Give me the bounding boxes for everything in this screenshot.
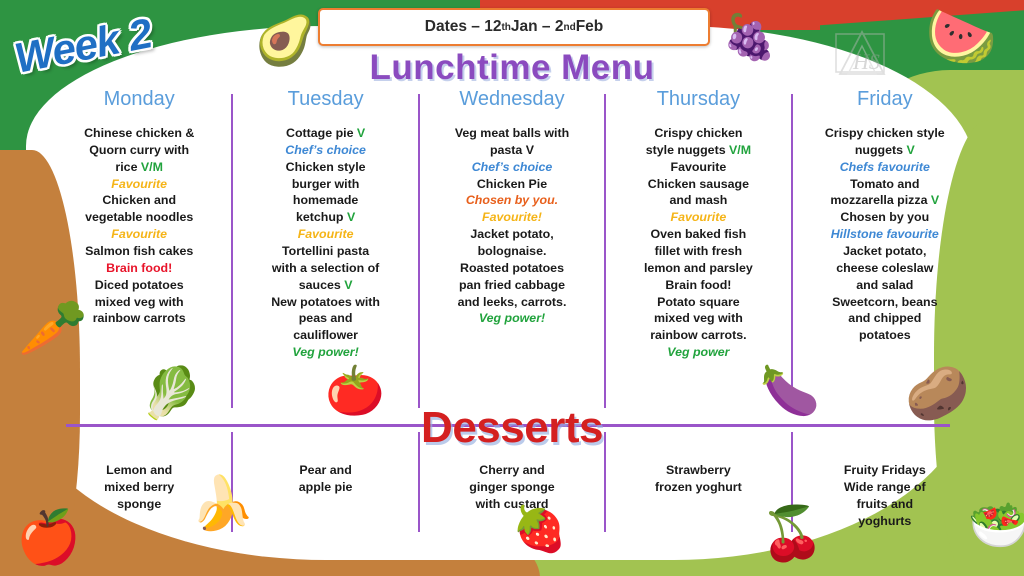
dessert-line: apple pie (240, 479, 410, 496)
menu-line: pasta V (425, 142, 599, 159)
menu-line-text: ketchup (296, 210, 347, 224)
menu-line: Oven baked fish (611, 226, 785, 243)
grape-character-glyph: 🍇 (722, 16, 777, 60)
menu-line: Sweetcorn, beans (798, 294, 972, 311)
menu-tag-chef: Hillstone favourite (798, 226, 972, 243)
menu-line: Chicken style (238, 159, 412, 176)
carrot-character-glyph: 🥕 (18, 300, 88, 356)
menu-tag-fav: Favourite! (425, 209, 599, 226)
dessert-line: Strawberry (613, 462, 783, 479)
veg-marker: V (347, 210, 355, 224)
potato-character-glyph: 🥔 (905, 368, 970, 420)
dates-box: Dates – 12th Jan – 2nd Feb (318, 8, 710, 46)
day-column-monday: MondayChinese chicken &Quorn curry withr… (46, 88, 232, 408)
menu-line-text: and chipped (848, 311, 921, 325)
day-columns: MondayChinese chicken &Quorn curry withr… (46, 88, 978, 408)
menu-line-text: Favourite (671, 160, 727, 174)
dessert-text: Fruity FridaysWide range offruits andyog… (800, 432, 970, 530)
menu-line-text: burger with (292, 177, 359, 191)
aubergine-character: 🍆 (760, 368, 820, 416)
menu-line-text: Favourite (111, 227, 167, 241)
menu-line-text: Sweetcorn, beans (832, 295, 937, 309)
menu-line-text: rainbow carrots. (650, 328, 746, 342)
menu-line: ketchup V (238, 209, 412, 226)
dessert-line: frozen yoghurt (613, 479, 783, 496)
dessert-text: Pear andapple pie (240, 432, 410, 496)
dessert-line: Pear and (240, 462, 410, 479)
cabbage-character: 🥬 (140, 368, 202, 418)
menu-line-text: rice (115, 160, 141, 174)
grape-character: 🍇 (722, 16, 777, 60)
tomato-character: 🍅 (325, 368, 385, 416)
menu-line: sauces V (238, 277, 412, 294)
veg-marker: V/M (729, 143, 751, 157)
apple-character-glyph: 🍎 (16, 512, 81, 564)
menu-line: with a selection of (238, 260, 412, 277)
menu-line-text: Favourite (298, 227, 354, 241)
menu-line: Crispy chicken (611, 125, 785, 142)
menu-line: and leeks, carrots. (425, 294, 599, 311)
banana-character-glyph: 🍌 (190, 478, 255, 530)
veg-marker: V/M (141, 160, 163, 174)
day-column-wednesday: WednesdayVeg meat balls withpasta VChef’… (419, 88, 605, 408)
menu-line: Salmon fish cakes (52, 243, 226, 260)
menu-line-text: Potato square (657, 295, 740, 309)
cherries-character-glyph: 🍒 (760, 508, 825, 560)
menu-line-text: vegetable noodles (85, 210, 193, 224)
menu-line-text: rainbow carrots (93, 311, 186, 325)
menu-line-text: mozzarella pizza (830, 193, 931, 207)
dessert-column-tuesday: Pear andapple pie (232, 432, 418, 542)
menu-line: and mash (611, 192, 785, 209)
menu-line: Roasted potatoes (425, 260, 599, 277)
menu-line: style nuggets V/M (611, 142, 785, 159)
menu-line-text: homemade (293, 193, 358, 207)
menu-line-text: Veg power! (292, 345, 358, 359)
menu-line: mozzarella pizza V (798, 192, 972, 209)
menu-line-text: Quorn curry with (89, 143, 189, 157)
menu-line-text: Oven baked fish (651, 227, 747, 241)
menu-line-text: Salmon fish cakes (85, 244, 193, 258)
menu-line-text: with a selection of (272, 261, 379, 275)
menu-line-text: Chicken sausage (648, 177, 749, 191)
menu-line-text: Chinese chicken & (84, 126, 194, 140)
dessert-text: Strawberryfrozen yoghurt (613, 432, 783, 496)
menu-line: Tortellini pasta (238, 243, 412, 260)
tomato-character-glyph: 🍅 (325, 368, 385, 416)
menu-line-text: fillet with fresh (655, 244, 742, 258)
menu-line-text: Chef’s choice (472, 160, 553, 174)
menu-line-text: and mash (669, 193, 727, 207)
menu-line-text: Hillstone favourite (831, 227, 939, 241)
dessert-line: ginger sponge (427, 479, 597, 496)
menu-line-text: Chicken and (102, 193, 176, 207)
strawberry-character: 🍓 (512, 508, 567, 552)
day-header-friday: Friday (798, 88, 972, 111)
menu-line-text: Jacket potato, (470, 227, 553, 241)
veg-marker: V (931, 193, 939, 207)
avocado-character-glyph: 🥑 (255, 18, 315, 66)
menu-line: Jacket potato, (798, 243, 972, 260)
menu-line-text: Brain food! (665, 278, 731, 292)
menu-line: Tomato and (798, 176, 972, 193)
menu-line: Quorn curry with (52, 142, 226, 159)
menu-tag-brain: Brain food! (52, 260, 226, 277)
menu-line: Chicken and (52, 192, 226, 209)
dessert-line: Wide range of (800, 479, 970, 496)
menu-line-text: Tomato and (850, 177, 919, 191)
menu-line-text: bolognaise. (478, 244, 547, 258)
dates-mid: Jan – 2 (511, 18, 564, 36)
menu-tag-chosen: Chosen by you. (425, 192, 599, 209)
menu-line-text: lemon and parsley (644, 261, 753, 275)
menu-tag-chosenp: Chosen by you (798, 209, 972, 226)
menu-line: Crispy chicken style (798, 125, 972, 142)
day-column-friday: FridayCrispy chicken stylenuggets VChefs… (792, 88, 978, 408)
menu-line: Chicken sausage (611, 176, 785, 193)
strawberry-character-glyph: 🍓 (512, 508, 567, 552)
menu-line: nuggets V (798, 142, 972, 159)
dessert-text: Cherry andginger spongewith custard (427, 432, 597, 513)
menu-line-text: cheese coleslaw (836, 261, 933, 275)
menu-line-text: Brain food! (106, 261, 172, 275)
menu-line: rice V/M (52, 159, 226, 176)
veg-marker: V (344, 278, 352, 292)
menu-line: lemon and parsley (611, 260, 785, 277)
aubergine-character-glyph: 🍆 (760, 368, 820, 416)
menu-line: cauliflower (238, 327, 412, 344)
menu-line-text: Veg power! (479, 311, 545, 325)
menu-line: mixed veg with (611, 310, 785, 327)
dessert-line: yoghurts (800, 513, 970, 530)
menu-line-text: Chefs favourite (840, 160, 930, 174)
menu-poster: HS Week 2 Dates – 12th Jan – 2nd Feb Lun… (0, 0, 1024, 576)
menu-tag-veg: Veg power (611, 344, 785, 361)
menu-tag-brainp: Brain food! (611, 277, 785, 294)
menu-line-text: mixed veg with (95, 295, 184, 309)
menu-line: and chipped (798, 310, 972, 327)
page-title: Lunchtime Menu (0, 48, 1024, 88)
dessert-line: fruits and (800, 496, 970, 513)
watermelon-character: 🍉 (925, 8, 997, 66)
menu-line-text: Jacket potato, (843, 244, 926, 258)
menu-tag-chef: Chefs favourite (798, 159, 972, 176)
beetroot-character: 🥗 (968, 500, 1024, 550)
day-header-tuesday: Tuesday (238, 88, 412, 111)
menu-line-text: Favourite (671, 210, 727, 224)
menu-line-text: Chosen by you (840, 210, 929, 224)
menu-line-text: pasta V (490, 143, 534, 157)
menu-line-text: sauces (299, 278, 344, 292)
menu-line: and salad (798, 277, 972, 294)
menu-tag-fav: Favourite (52, 176, 226, 193)
menu-line: fillet with fresh (611, 243, 785, 260)
dates-suffix: Feb (576, 18, 604, 36)
dates-prefix: Dates – 12 (425, 18, 502, 36)
menu-line-text: and salad (856, 278, 913, 292)
dessert-line: Fruity Fridays (800, 462, 970, 479)
menu-line-text: Chicken Pie (477, 177, 547, 191)
menu-line: Chinese chicken & (52, 125, 226, 142)
day-header-thursday: Thursday (611, 88, 785, 111)
potato-character: 🥔 (905, 368, 970, 420)
veg-marker: V (357, 126, 365, 140)
menu-line: peas and (238, 310, 412, 327)
menu-line: pan fried cabbage (425, 277, 599, 294)
menu-tag-chef: Chef’s choice (425, 159, 599, 176)
menu-line: Potato square (611, 294, 785, 311)
day-column-tuesday: TuesdayCottage pie VChef’s choiceChicken… (232, 88, 418, 408)
menu-line-text: New potatoes with (271, 295, 380, 309)
menu-line: potatoes (798, 327, 972, 344)
menu-line-text: Diced potatoes (95, 278, 184, 292)
dessert-line: Cherry and (427, 462, 597, 479)
carrot-character: 🥕 (18, 300, 88, 356)
veg-marker: V (906, 143, 914, 157)
menu-line-text: Cottage pie (286, 126, 357, 140)
menu-line-text: pan fried cabbage (459, 278, 565, 292)
menu-line-text: Chef’s choice (285, 143, 366, 157)
menu-tag-fav: Favourite (238, 226, 412, 243)
menu-line-text: style nuggets (646, 143, 729, 157)
menu-line: Jacket potato, (425, 226, 599, 243)
menu-line: burger with (238, 176, 412, 193)
menu-line-text: nuggets (855, 143, 907, 157)
menu-line: vegetable noodles (52, 209, 226, 226)
menu-tag-fav: Favourite (52, 226, 226, 243)
menu-line: bolognaise. (425, 243, 599, 260)
apple-character: 🍎 (16, 512, 81, 564)
menu-line: cheese coleslaw (798, 260, 972, 277)
banana-character: 🍌 (190, 478, 255, 530)
dates-sup-2: nd (563, 22, 575, 33)
cherries-character: 🍒 (760, 508, 825, 560)
menu-line-text: Crispy chicken (654, 126, 742, 140)
menu-line: New potatoes with (238, 294, 412, 311)
menu-tag-veg: Veg power! (238, 344, 412, 361)
menu-line: Veg meat balls with (425, 125, 599, 142)
menu-line-text: Chosen by you. (466, 193, 558, 207)
menu-line-text: Veg power (667, 345, 729, 359)
menu-line-text: Roasted potatoes (460, 261, 564, 275)
menu-tag-favp: Favourite (611, 159, 785, 176)
menu-line-text: mixed veg with (654, 311, 743, 325)
menu-tag-fav: Favourite (611, 209, 785, 226)
menu-tag-veg: Veg power! (425, 310, 599, 327)
beetroot-character-glyph: 🥗 (968, 500, 1024, 550)
day-header-monday: Monday (52, 88, 226, 111)
menu-line: rainbow carrots. (611, 327, 785, 344)
menu-line: Cottage pie V (238, 125, 412, 142)
menu-line-text: Tortellini pasta (282, 244, 369, 258)
menu-line: Chicken Pie (425, 176, 599, 193)
menu-line-text: Chicken style (286, 160, 366, 174)
avocado-character: 🥑 (255, 18, 315, 66)
menu-line-text: peas and (299, 311, 353, 325)
cabbage-character-glyph: 🥬 (140, 368, 202, 418)
day-header-wednesday: Wednesday (425, 88, 599, 111)
menu-line-text: Favourite! (482, 210, 542, 224)
watermelon-character-glyph: 🍉 (925, 8, 997, 66)
menu-tag-chef: Chef’s choice (238, 142, 412, 159)
menu-line: Diced potatoes (52, 277, 226, 294)
day-column-thursday: ThursdayCrispy chickenstyle nuggets V/MF… (605, 88, 791, 408)
menu-line-text: Favourite (111, 177, 167, 191)
menu-line-text: Crispy chicken style (825, 126, 945, 140)
menu-line-text: potatoes (859, 328, 911, 342)
menu-line: homemade (238, 192, 412, 209)
dates-sup-1: th (501, 22, 510, 33)
menu-line-text: and leeks, carrots. (458, 295, 567, 309)
menu-line-text: cauliflower (293, 328, 358, 342)
menu-line-text: Veg meat balls with (455, 126, 569, 140)
